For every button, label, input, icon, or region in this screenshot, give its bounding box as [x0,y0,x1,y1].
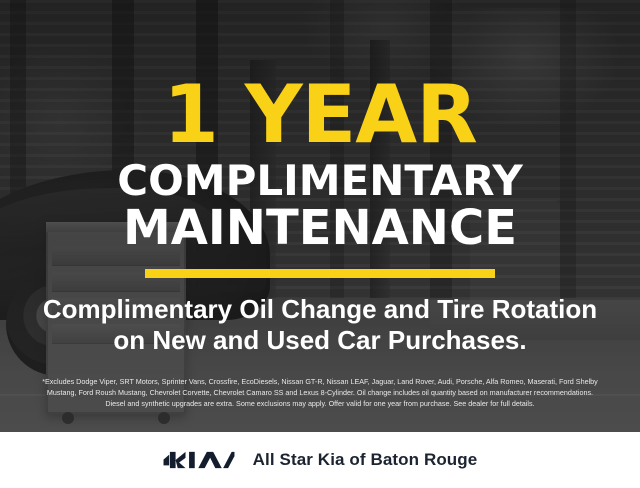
disclaimer-line-2: Mustang, Ford Roush Mustang, Chevrolet C… [14,387,626,398]
dealer-name: All Star Kia of Baton Rouge [253,450,478,470]
subheadline: Complimentary Oil Change and Tire Rotati… [43,294,597,357]
banner-content: 1 YEAR COMPLIMENTARY MAINTENANCE Complim… [0,0,640,488]
headline-complimentary: COMPLIMENTARY [117,160,522,202]
disclaimer-line-3: Diesel and synthetic upgrades are extra.… [14,398,626,409]
headline-year: 1 YEAR [163,78,477,152]
headline-maintenance: MAINTENANCE [123,204,517,252]
kia-logo-icon [163,449,235,471]
disclaimer-fineprint: *Excludes Dodge Viper, SRT Motors, Sprin… [14,376,626,409]
disclaimer-line-1: *Excludes Dodge Viper, SRT Motors, Sprin… [14,376,626,387]
yellow-divider-rule [145,269,495,278]
subheadline-line-2: on New and Used Car Purchases. [43,325,597,357]
footer-bar: All Star Kia of Baton Rouge [0,432,640,488]
subheadline-line-1: Complimentary Oil Change and Tire Rotati… [43,294,597,326]
promo-banner: 1 YEAR COMPLIMENTARY MAINTENANCE Complim… [0,0,640,488]
